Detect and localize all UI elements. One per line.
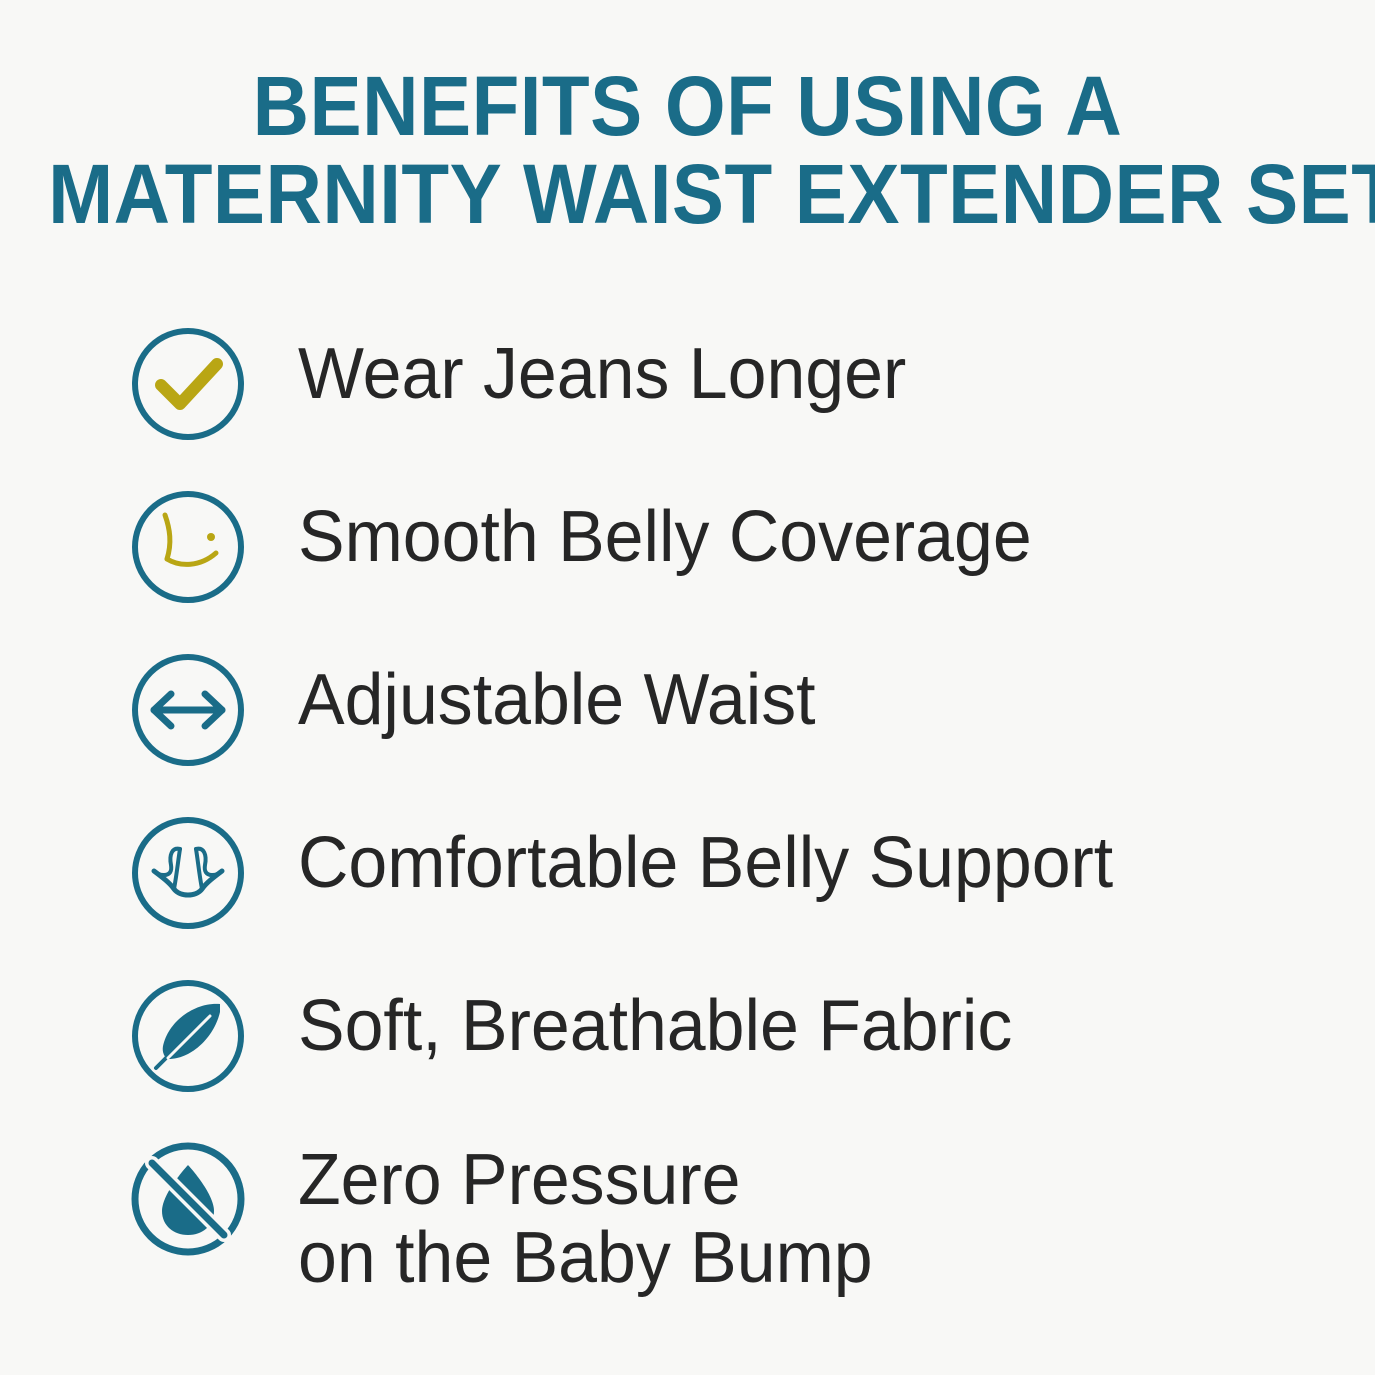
- page-title: BENEFITS OF USING A MATERNITY WAIST EXTE…: [0, 62, 1375, 238]
- benefit-label: Adjustable Waist: [298, 644, 1343, 740]
- benefit-item: Adjustable Waist: [0, 644, 1375, 807]
- benefit-label: Soft, Breathable Fabric: [298, 970, 1343, 1066]
- belly-profile-icon: [128, 487, 248, 607]
- supporting-hands-icon: [128, 813, 248, 933]
- benefits-list: Wear Jeans Longer Smooth Belly Coverage: [0, 318, 1375, 1333]
- check-circle-icon: [128, 324, 248, 444]
- feather-icon: [128, 976, 248, 1096]
- no-pressure-droplet-icon: [128, 1139, 248, 1259]
- infographic-page: BENEFITS OF USING A MATERNITY WAIST EXTE…: [0, 0, 1375, 1375]
- benefit-label: Smooth Belly Coverage: [298, 481, 1343, 577]
- benefit-label: Comfortable Belly Support: [298, 807, 1343, 903]
- benefit-item: Comfortable Belly Support: [0, 807, 1375, 970]
- benefit-label: Zero Pressure on the Baby Bump: [298, 1133, 1343, 1297]
- benefit-label: Wear Jeans Longer: [298, 318, 1343, 414]
- benefit-item: Soft, Breathable Fabric: [0, 970, 1375, 1133]
- benefit-item: Zero Pressure on the Baby Bump: [0, 1133, 1375, 1333]
- page-title-line-1: BENEFITS OF USING A: [48, 62, 1327, 150]
- benefit-item: Wear Jeans Longer: [0, 318, 1375, 481]
- horizontal-double-arrow-icon: [128, 650, 248, 770]
- benefit-item: Smooth Belly Coverage: [0, 481, 1375, 644]
- page-title-line-2: MATERNITY WAIST EXTENDER SET: [48, 150, 1327, 238]
